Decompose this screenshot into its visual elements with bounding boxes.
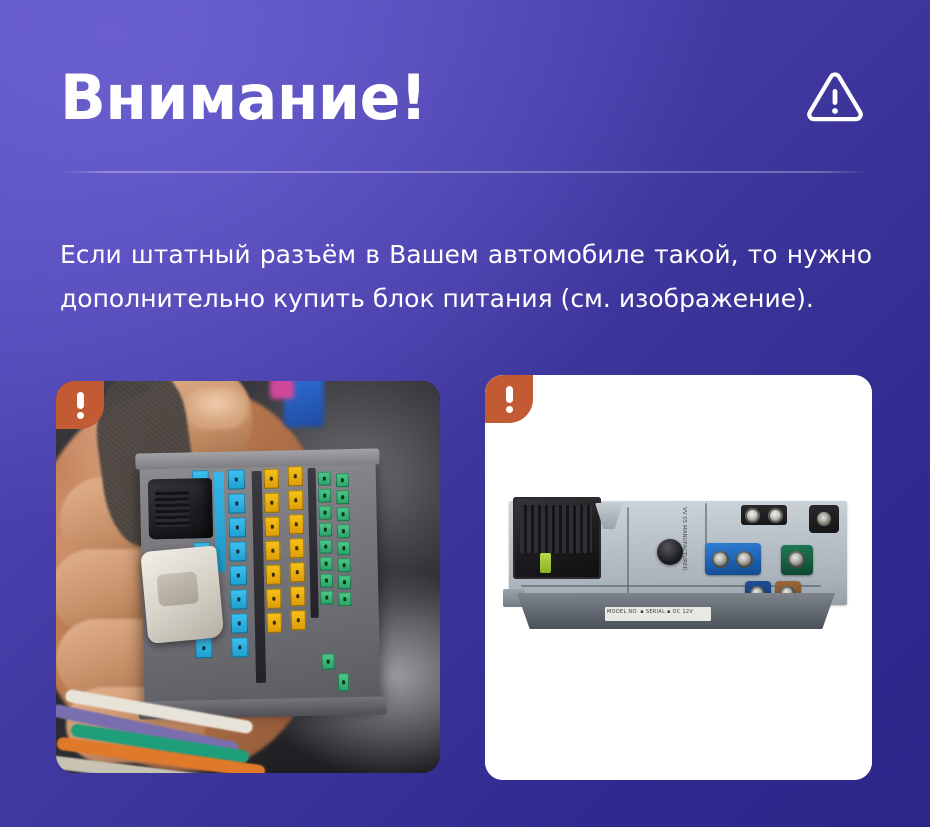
wire-bundle (56, 675, 346, 773)
connector-black-plug (148, 478, 213, 539)
unit-side-text: VV 05 MANUFACTURED (681, 507, 687, 571)
pin-column-green-b (336, 473, 352, 606)
page-header: Внимание! (60, 52, 870, 144)
background-pink-part (270, 381, 294, 399)
unit-sticker-text: MODEL NO. ▪ SERIAL ▪ DC 12V (607, 609, 709, 615)
page-title: Внимание! (60, 67, 427, 129)
notice-text: Если штатный разъём в Вашем автомобиле т… (60, 233, 872, 321)
oem-connector-photo (56, 381, 440, 773)
attention-notice-page: Внимание! Если штатный разъём в Вашем ав… (0, 0, 930, 827)
power-supply-unit-card[interactable]: VV 05 MANUFACTURED (485, 375, 872, 780)
unit-green-key (540, 553, 551, 573)
pin-column-green-a (318, 471, 334, 604)
connector-slot-right (308, 468, 319, 618)
card-badge-right (485, 375, 533, 423)
card-badge-left (56, 381, 104, 429)
fakra-connector-blue (705, 543, 761, 575)
connector-white-clip (140, 545, 224, 644)
pin-column-yellow-b (288, 466, 306, 630)
warning-triangle-icon (804, 67, 866, 129)
notice-text-line-1: Если штатный разъём в Вашем автомобиле т… (60, 233, 872, 277)
oem-connector-body (139, 457, 380, 710)
thumb-nail (184, 387, 248, 429)
unit-round-knob (657, 539, 683, 565)
exclamation-icon (506, 386, 513, 412)
fakra-connector-green (781, 545, 813, 575)
exclamation-icon (77, 392, 84, 418)
unit-main-connector (513, 497, 601, 579)
unit-sticker-label: MODEL NO. ▪ SERIAL ▪ DC 12V (605, 607, 711, 621)
unit-corner-screw (809, 505, 839, 533)
oem-connector-card[interactable] (56, 381, 440, 773)
rca-jack-left (745, 508, 760, 523)
head-unit-rear: VV 05 MANUFACTURED (509, 501, 849, 643)
pin-green-lower (321, 653, 334, 669)
header-divider (60, 171, 870, 173)
rca-jack-right (768, 508, 783, 523)
power-supply-unit-photo: VV 05 MANUFACTURED (485, 375, 872, 780)
pin-column-yellow-a (264, 469, 282, 633)
pin-column-cyan-b (228, 469, 249, 657)
unit-rca-pair (741, 505, 787, 525)
notice-text-line-2: дополнительно купить блок питания (см. и… (60, 277, 872, 321)
